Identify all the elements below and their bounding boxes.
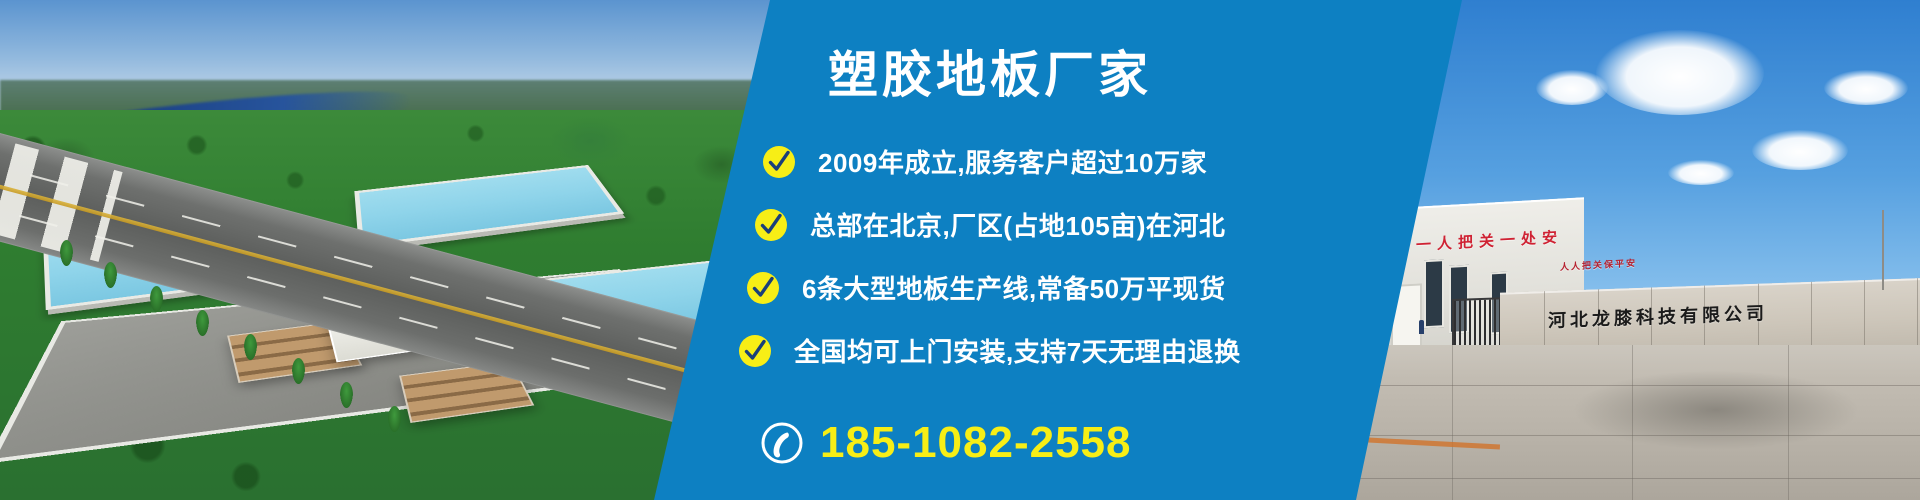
phone-number-text: 185-1082-2558 — [820, 418, 1131, 468]
check-circle-icon — [746, 271, 780, 305]
promo-banner: 一人把关一处安 人人把关保平安 河北龙膝科技有限公司 — [0, 0, 1920, 500]
feature-text: 总部在北京,厂区(占地105亩)在河北 — [810, 206, 1225, 243]
feature-text: 全国均可上门安装,支持7天无理由退换 — [794, 332, 1241, 369]
contact-phone[interactable]: 185-1082-2558 — [760, 418, 1131, 468]
check-circle-icon — [754, 208, 788, 242]
feature-list-item: 6条大型地板生产线,常备50万平现货 — [746, 256, 1360, 319]
feature-list-item: 2009年成立,服务客户超过10万家 — [762, 130, 1360, 193]
feature-list-item: 总部在北京,厂区(占地105亩)在河北 — [754, 193, 1360, 256]
check-circle-icon — [738, 334, 772, 368]
telephone-icon — [760, 421, 804, 465]
banner-title: 塑胶地板厂家 — [700, 50, 1280, 100]
feature-list: 2009年成立,服务客户超过10万家 总部在北京,厂区(占地105亩)在河北 — [740, 130, 1360, 382]
check-circle-icon — [762, 145, 796, 179]
feature-list-item: 全国均可上门安装,支持7天无理由退换 — [738, 319, 1360, 382]
feature-text: 6条大型地板生产线,常备50万平现货 — [802, 269, 1226, 306]
banner-content: 塑胶地板厂家 2009年成立,服务客户超过10万家 — [0, 0, 1920, 500]
feature-text: 2009年成立,服务客户超过10万家 — [818, 143, 1207, 180]
